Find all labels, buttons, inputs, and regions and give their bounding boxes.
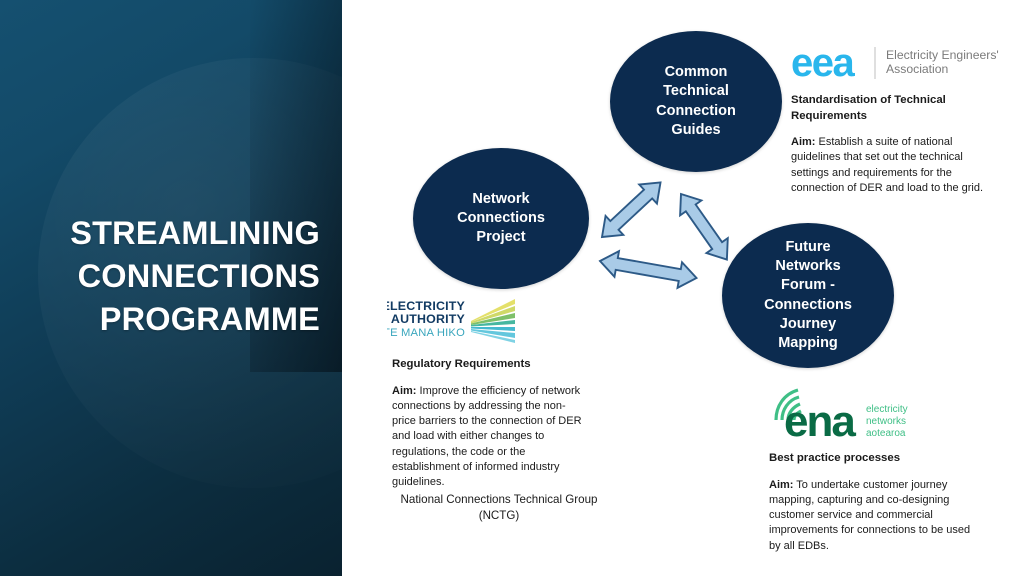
circle-ctcg-line-1: Common [648, 63, 744, 82]
circle-fnf-line-2: Networks [756, 257, 860, 276]
circle-ctcg-line-3: Connection [648, 102, 744, 121]
eea-tagline-line-2: Association [886, 62, 948, 76]
electricity-authority-text-block: Regulatory Requirements Aim: Improve the… [392, 357, 582, 490]
circle-network-connections-project[interactable]: Network Connections Project [413, 148, 589, 289]
nctg-caption-line-1: National Connections Technical Group [386, 492, 612, 508]
nctg-caption: National Connections Technical Group (NC… [386, 492, 612, 524]
eea-aim-text: Establish a suite of national guidelines… [791, 136, 983, 194]
ena-logo: ena electricity networks aotearoa [768, 384, 911, 442]
eea-body: Aim: Establish a suite of national guide… [791, 135, 1003, 196]
arrow-ncp-ctcg [593, 173, 669, 247]
ea-heading: Regulatory Requirements [392, 357, 582, 373]
ena-text-block: Best practice processes Aim: To undertak… [769, 451, 984, 554]
title-panel: STREAMLINING CONNECTIONS PROGRAMME [0, 0, 342, 576]
eea-text-block: Standardisation of Technical Requirement… [791, 93, 1003, 196]
arrow-ctcg-fnf [670, 187, 737, 267]
circle-ncp-line-1: Network [449, 190, 553, 209]
arrow-ncp-fnf [598, 248, 699, 291]
eea-heading: Standardisation of Technical Requirement… [791, 93, 1003, 124]
arrow-group [575, 165, 770, 310]
slide-canvas: STREAMLINING CONNECTIONS PROGRAMME Commo… [0, 0, 1024, 576]
circle-fnf-line-6: Mapping [756, 334, 860, 353]
ena-wordmark: ena [784, 397, 856, 442]
ea-logo-line-2: AUTHORITY [391, 312, 466, 326]
ena-aim-label: Aim: [769, 479, 793, 491]
eea-wordmark: eea [791, 41, 855, 85]
page-title-line-3: PROGRAMME [0, 298, 320, 341]
ena-tagline-line-1: electricity [866, 404, 908, 415]
circle-common-technical-connection-guides[interactable]: Common Technical Connection Guides [610, 31, 782, 172]
ena-aim-text: To undertake customer journey mapping, c… [769, 479, 970, 552]
circle-ctcg-line-4: Guides [648, 121, 744, 140]
eea-tagline-line-1: Electricity Engineers' [886, 48, 999, 62]
nctg-caption-line-2: (NCTG) [386, 508, 612, 524]
electricity-authority-logo: ELECTRICITY AUTHORITY TE MANA HIKO [387, 297, 517, 343]
ena-body: Aim: To undertake customer journey mappi… [769, 478, 984, 554]
circle-fnf-line-1: Future [756, 238, 860, 257]
ena-heading: Best practice processes [769, 451, 984, 467]
ea-logo-line-3: TE MANA HIKO [387, 327, 465, 339]
eea-logo: eea Electricity Engineers' Association [791, 41, 1003, 85]
ena-tagline-line-3: aotearoa [866, 428, 906, 439]
page-title-line-1: STREAMLINING [0, 212, 320, 255]
circle-fnf-line-3: Forum - [756, 276, 860, 295]
ena-tagline-line-2: networks [866, 416, 906, 427]
ea-logo-rays-icon [471, 299, 515, 343]
eea-aim-label: Aim: [791, 136, 815, 148]
ea-body: Aim: Improve the efficiency of network c… [392, 384, 582, 491]
circle-ncp-line-2: Connections [449, 209, 553, 228]
circle-fnf-line-5: Journey [756, 315, 860, 334]
circle-ctcg-line-2: Technical [648, 82, 744, 101]
ea-aim-text: Improve the efficiency of network connec… [392, 385, 582, 489]
ea-logo-line-1: ELECTRICITY [387, 299, 466, 313]
circle-fnf-line-4: Connections [756, 296, 860, 315]
ea-aim-label: Aim: [392, 385, 416, 397]
page-title-line-2: CONNECTIONS [0, 255, 320, 298]
page-title: STREAMLINING CONNECTIONS PROGRAMME [0, 212, 320, 342]
circle-ncp-line-3: Project [449, 228, 553, 247]
